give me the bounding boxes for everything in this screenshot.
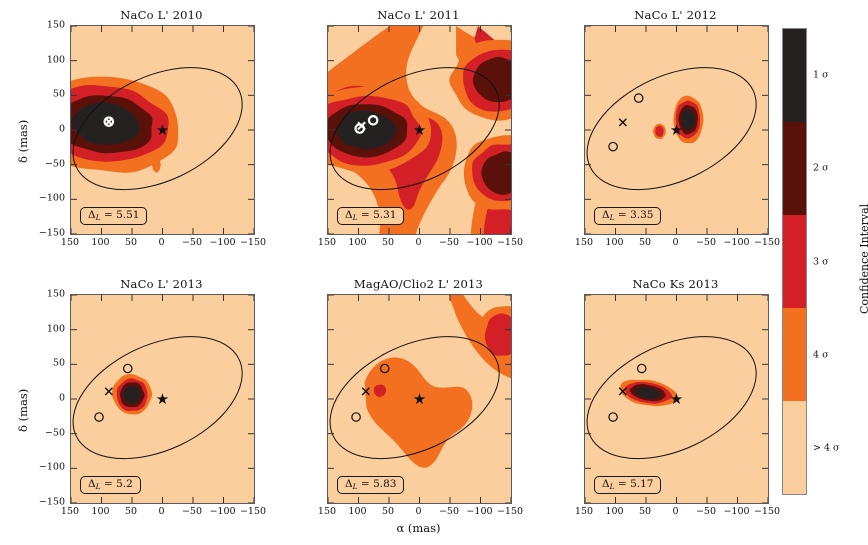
x-tick-label: 100 <box>348 237 366 248</box>
panel-naco-lp-2012: NaCo L' 2012★ΔL = 3.35150100500−50−100−1… <box>584 25 767 233</box>
colorbar-tick-label: 3 σ <box>813 256 829 267</box>
panel-magao-clio2-lp-2013: MagAO/Clio2 L' 2013★ΔL = 5.83150100500−5… <box>327 294 510 502</box>
epoch-circle-marker <box>634 94 642 102</box>
x-tick-label: 0 <box>158 506 164 517</box>
colorbar-tick-label: 4 σ <box>813 349 829 360</box>
delta-symbol: Δ <box>345 478 353 490</box>
x-tick-label: 100 <box>605 506 623 517</box>
x-tick-label: 50 <box>382 237 394 248</box>
x-tick-label: −150 <box>240 237 266 248</box>
y-tick-label: −150 <box>31 497 65 508</box>
colorbar-band <box>783 122 806 215</box>
epoch-circle-marker <box>609 413 617 421</box>
colorbar <box>782 28 807 495</box>
panel-title: NaCo L' 2010 <box>70 8 253 22</box>
panel-naco-ks-2013: NaCo Ks 2013★ΔL = 5.17150100500−50−100−1… <box>584 294 767 502</box>
x-tick-label: 0 <box>672 506 678 517</box>
delta-subscript: L <box>353 482 358 491</box>
plot-area: ★ΔL = 5.17 <box>584 294 769 504</box>
y-tick-label: 50 <box>31 358 65 369</box>
colorbar-tick-label: > 4 σ <box>813 443 840 454</box>
x-tick-label: 0 <box>415 237 421 248</box>
x-tick-label: −100 <box>466 237 492 248</box>
epoch-circle-marker <box>352 413 360 421</box>
figure-root: NaCo L' 2010★ΔL = 5.51150100500−50−100−1… <box>0 0 868 545</box>
delta-value: 5.51 <box>116 209 139 221</box>
delta-value: 5.17 <box>630 478 653 490</box>
delta-symbol: Δ <box>88 478 96 490</box>
y-tick-label: −50 <box>31 158 65 169</box>
x-tick-label: 150 <box>318 237 336 248</box>
delta-symbol: Δ <box>602 478 610 490</box>
y-axis-label-top: δ (mas) <box>16 120 30 163</box>
plot-area: ★ΔL = 5.2 <box>70 294 255 504</box>
delta-l-badge: ΔL = 5.83 <box>337 476 404 494</box>
x-tick-label: 50 <box>639 237 651 248</box>
y-axis-label-bottom: δ (mas) <box>16 389 30 432</box>
x-tick-label: 150 <box>575 506 593 517</box>
star-marker: ★ <box>670 390 683 408</box>
panel-title: NaCo Ks 2013 <box>584 277 767 291</box>
epoch-circle-marker <box>638 364 646 372</box>
panel-title: NaCo L' 2013 <box>70 277 253 291</box>
plot-area: ★ΔL = 3.35 <box>584 25 769 235</box>
delta-subscript: L <box>96 213 101 222</box>
delta-value: 5.83 <box>373 478 396 490</box>
x-tick-label: 150 <box>61 237 79 248</box>
x-tick-label: −150 <box>754 506 780 517</box>
epoch-cross-marker <box>619 119 626 126</box>
epoch-circle-marker <box>609 142 617 150</box>
y-tick-label: −150 <box>31 228 65 239</box>
y-tick-label: 100 <box>31 54 65 65</box>
x-tick-label: 150 <box>575 237 593 248</box>
x-tick-label: −150 <box>497 237 523 248</box>
delta-l-badge: ΔL = 5.2 <box>80 476 141 494</box>
x-axis-label: α (mas) <box>396 521 440 535</box>
delta-symbol: Δ <box>602 209 610 221</box>
epoch-cross-marker <box>105 388 112 395</box>
panel-naco-lp-2013: NaCo L' 2013★ΔL = 5.2150100500−50−100−15… <box>70 294 253 502</box>
plot-area: ★ΔL = 5.51 <box>70 25 255 235</box>
x-tick-label: −50 <box>696 237 716 248</box>
x-tick-label: −100 <box>466 506 492 517</box>
x-tick-label: 100 <box>605 237 623 248</box>
colorbar-band <box>783 215 806 308</box>
delta-value: 5.31 <box>373 209 396 221</box>
star-marker: ★ <box>413 390 426 408</box>
x-tick-label: 100 <box>91 237 109 248</box>
x-tick-label: 50 <box>382 506 394 517</box>
delta-l-badge: ΔL = 5.31 <box>337 207 404 225</box>
delta-subscript: L <box>353 213 358 222</box>
x-tick-label: −150 <box>497 506 523 517</box>
x-tick-label: 0 <box>415 506 421 517</box>
x-tick-label: 100 <box>348 506 366 517</box>
x-tick-label: 50 <box>639 506 651 517</box>
y-tick-label: 150 <box>31 289 65 300</box>
colorbar-band <box>783 308 806 401</box>
x-tick-label: −50 <box>439 506 459 517</box>
x-tick-label: 100 <box>91 506 109 517</box>
panel-naco-lp-2010: NaCo L' 2010★ΔL = 5.51150100500−50−100−1… <box>70 25 253 233</box>
star-marker: ★ <box>156 390 169 408</box>
delta-l-badge: ΔL = 5.51 <box>80 207 147 225</box>
x-tick-label: −50 <box>182 237 202 248</box>
x-tick-label: 150 <box>61 506 79 517</box>
x-tick-label: 50 <box>125 506 137 517</box>
y-tick-label: −50 <box>31 427 65 438</box>
x-tick-label: 0 <box>158 237 164 248</box>
delta-subscript: L <box>610 482 615 491</box>
x-tick-label: −150 <box>754 237 780 248</box>
plot-area: ★ΔL = 5.83 <box>327 294 512 504</box>
y-tick-label: −100 <box>31 462 65 473</box>
x-tick-label: −50 <box>696 506 716 517</box>
delta-l-badge: ΔL = 3.35 <box>594 207 661 225</box>
colorbar-tick-label: 1 σ <box>813 69 829 80</box>
x-tick-label: −100 <box>723 237 749 248</box>
colorbar-band <box>783 401 806 494</box>
star-marker: ★ <box>413 121 426 139</box>
panel-title: NaCo L' 2011 <box>327 8 510 22</box>
x-tick-label: −50 <box>439 237 459 248</box>
delta-symbol: Δ <box>345 209 353 221</box>
delta-symbol: Δ <box>88 209 96 221</box>
star-marker: ★ <box>670 121 683 139</box>
y-tick-label: 150 <box>31 20 65 31</box>
x-tick-label: −50 <box>182 506 202 517</box>
delta-value: 5.2 <box>116 478 133 490</box>
colorbar-title: Confidence Interval <box>858 203 868 313</box>
y-tick-label: −100 <box>31 193 65 204</box>
y-tick-label: 0 <box>31 393 65 404</box>
x-tick-label: 50 <box>125 237 137 248</box>
delta-l-badge: ΔL = 5.17 <box>594 476 661 494</box>
plot-area: ★ΔL = 5.31 <box>327 25 512 235</box>
x-tick-label: −100 <box>209 506 235 517</box>
x-tick-label: −150 <box>240 506 266 517</box>
panel-naco-lp-2011: NaCo L' 2011★ΔL = 5.31150100500−50−100−1… <box>327 25 510 233</box>
x-tick-label: 0 <box>672 237 678 248</box>
y-tick-label: 50 <box>31 89 65 100</box>
panel-title: NaCo L' 2012 <box>584 8 767 22</box>
epoch-circle-marker <box>124 364 132 372</box>
y-tick-label: 100 <box>31 323 65 334</box>
x-tick-label: −100 <box>209 237 235 248</box>
colorbar-tick-label: 2 σ <box>813 163 829 174</box>
epoch-circle-marker <box>95 413 103 421</box>
delta-value: 3.35 <box>630 209 653 221</box>
x-tick-label: 150 <box>318 506 336 517</box>
x-tick-label: −100 <box>723 506 749 517</box>
delta-subscript: L <box>610 213 615 222</box>
star-marker: ★ <box>156 121 169 139</box>
delta-subscript: L <box>96 482 101 491</box>
y-tick-label: 0 <box>31 124 65 135</box>
panel-title: MagAO/Clio2 L' 2013 <box>327 277 510 291</box>
colorbar-band <box>783 29 806 122</box>
